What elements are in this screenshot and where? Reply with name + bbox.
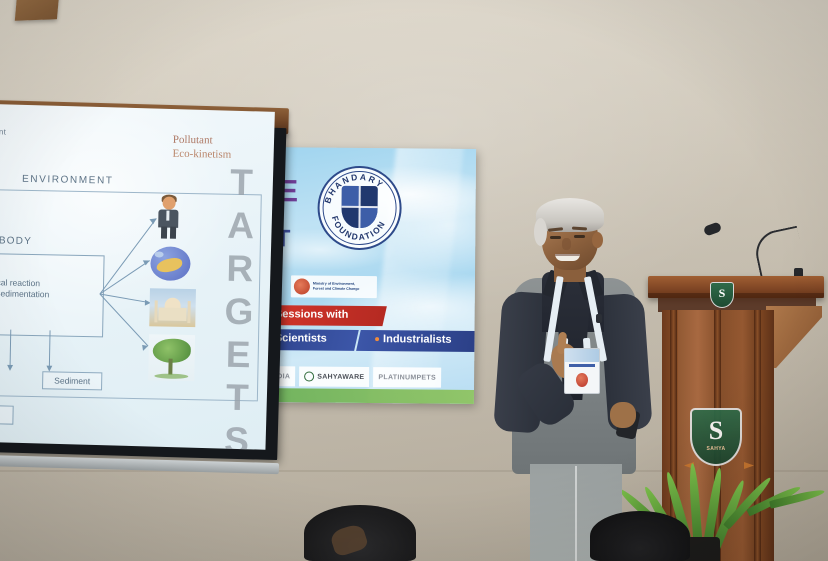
speaker-eye-right: [574, 235, 585, 238]
speaker-hair-side: [534, 218, 547, 246]
banner-sponsor-row: IDAC INDIA SAHYAWARE PLATINUMPETS: [252, 365, 476, 389]
svg-text:BHANDARY: BHANDARY: [322, 171, 386, 205]
projection-screen: ment Pollutant Eco-kinetism ENVIRONMENT …: [0, 100, 286, 468]
slide-content: ment Pollutant Eco-kinetism ENVIRONMENT …: [0, 105, 273, 448]
bhandary-foundation-logo: BHANDARY FOUNDATION: [317, 166, 402, 251]
slide-sediment-box: Sediment: [42, 371, 102, 390]
sponsor-logo-sahyaware: SAHYAWARE: [299, 366, 369, 387]
banner-industrialists-label: Industrialists: [383, 333, 452, 346]
banner-industrialists-wrap: Industrialists: [359, 330, 476, 346]
logo-circular-text: BHANDARY FOUNDATION: [317, 166, 402, 251]
ceiling-fixture: [15, 0, 59, 21]
podium-top-emblem-icon: S: [710, 282, 734, 308]
speaker-smile: [555, 254, 580, 261]
banner-blue-bar-industrialists: Industrialists: [356, 330, 476, 352]
bullet-dot-icon: [375, 337, 379, 341]
speaker-eye-left: [550, 236, 561, 239]
banner-green-strip: [252, 388, 476, 404]
sponsor-sahyaware-label: SAHYAWARE: [317, 373, 364, 380]
tree-icon: [148, 334, 195, 381]
conference-photo-scene: VE NT BHANDARY FOUNDATION: [0, 0, 828, 561]
conference-id-badge: [564, 348, 600, 394]
sahyaware-icon: [304, 371, 314, 381]
slide-targets-title: TARGETS: [215, 162, 263, 450]
podium-top-emblem-letter: S: [711, 286, 733, 301]
ministry-logo-block: Ministry of Environment, Forest and Clim…: [291, 275, 377, 298]
person-icon: [151, 196, 186, 239]
trouser-crease: [575, 466, 577, 561]
screen-surface: ment Pollutant Eco-kinetism ENVIRONMENT …: [0, 104, 275, 450]
speaker-ear: [592, 232, 603, 248]
speaker-person: [492, 196, 662, 561]
speaker-right-hand: [610, 402, 636, 428]
event-banner: VE NT BHANDARY FOUNDATION: [252, 147, 476, 404]
audience-head-right: [590, 511, 690, 561]
sponsor-logo-platinumpets: PLATINUMPETS: [373, 367, 441, 388]
ministry-emblem-icon: [294, 278, 310, 294]
ministry-text: Ministry of Environment, Forest and Clim…: [313, 282, 360, 292]
audience-head-left: [304, 505, 416, 561]
svg-text:FOUNDATION: FOUNDATION: [330, 215, 388, 243]
clip-microphone-icon: [596, 314, 602, 323]
ministry-line-2: Forest and Climate Change: [313, 287, 360, 292]
podium-top-surface: [648, 276, 824, 298]
taj-mahal-icon: [149, 288, 196, 327]
speaker-nose: [562, 238, 571, 250]
slide-sink-box: NK: [0, 405, 14, 425]
podium-side-panel: [766, 306, 822, 368]
badge-emblem-icon: [576, 373, 588, 387]
